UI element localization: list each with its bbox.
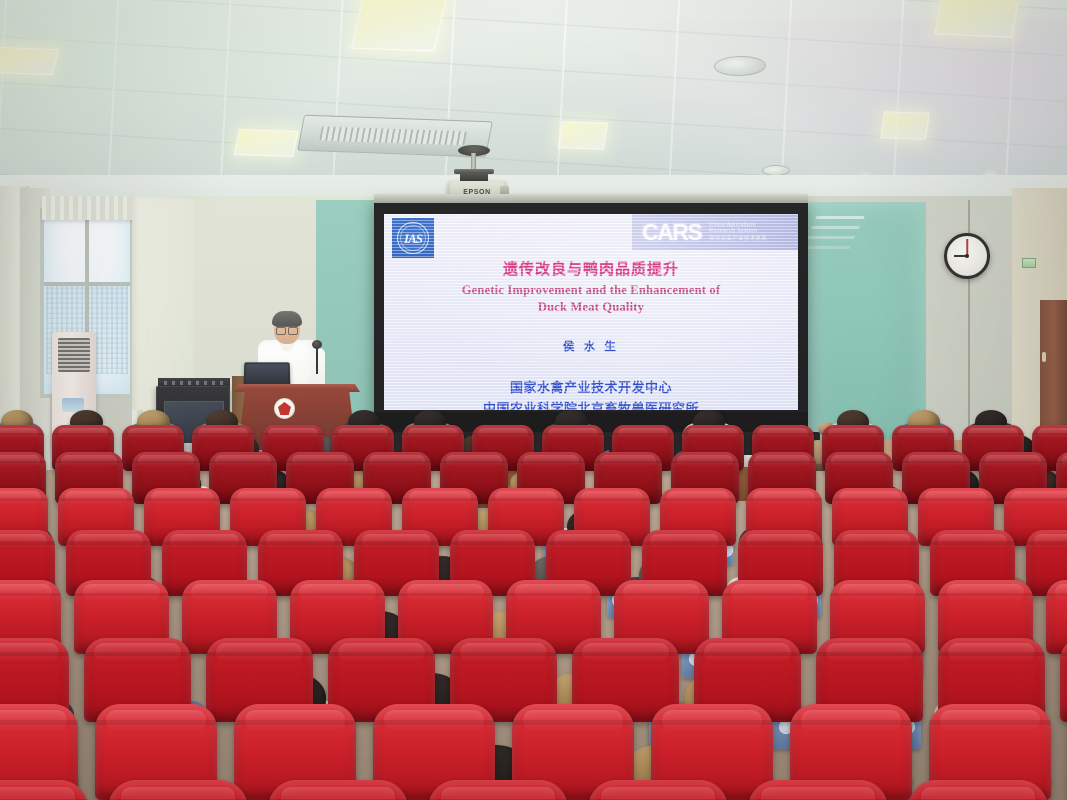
ias-logo-text: IAS	[404, 232, 422, 245]
slide-organization: 国家水禽产业技术开发中心 中国农业科学院北京畜牧兽医研究所	[384, 377, 798, 411]
microphone-stand	[316, 346, 318, 374]
slide-text-block: 遗传改良与鸭肉品质提升 Genetic Improvement and the …	[384, 258, 798, 410]
projection-screen[interactable]: IAS CARS China Agriculture Research Syst…	[374, 200, 808, 432]
ceiling-panel-light	[351, 0, 449, 51]
ceiling-panel-light	[880, 111, 930, 140]
cars-chinese-line: 现代农业产业技术体系	[709, 236, 767, 242]
cars-logo-subtext: China Agriculture Research System 现代农业产业…	[709, 222, 767, 242]
slide-org-line1: 国家水禽产业技术开发中心	[510, 380, 672, 395]
clock-face-tickmarks	[947, 236, 987, 276]
auditorium-seat[interactable]	[428, 780, 568, 800]
ceiling-panel-light	[558, 121, 608, 150]
lecture-hall-scene: EPSON	[0, 0, 1067, 800]
slide-org-line2: 中国农业科学院北京畜牧兽医研究所	[483, 401, 699, 410]
slide-title-english: Genetic Improvement and the Enhancement …	[384, 282, 798, 317]
auditorium-seat[interactable]	[268, 780, 408, 800]
auditorium-seat[interactable]	[908, 780, 1048, 800]
gooseneck-microphone	[312, 340, 322, 349]
screen-top-housing	[374, 194, 808, 203]
slide-title-english-line2: Duck Meat Quality	[538, 300, 644, 314]
auditorium-seat[interactable]	[108, 780, 248, 800]
ias-logo-ring: IAS	[397, 222, 429, 254]
speaker-glasses	[276, 326, 298, 332]
exit-sign	[1022, 258, 1036, 268]
projector-mount-rod	[471, 153, 476, 170]
ceiling-panel-light	[934, 0, 1019, 38]
cars-logo: CARS China Agriculture Research System 现…	[632, 214, 798, 250]
wall-clock	[944, 233, 990, 279]
auditorium-seat[interactable]	[748, 780, 888, 800]
slide-author-name: 侯 水 生	[384, 338, 798, 354]
slide-title-english-line1: Genetic Improvement and the Enhancement …	[462, 283, 721, 297]
roller-blind-valance[interactable]	[42, 196, 134, 220]
presentation-slide: IAS CARS China Agriculture Research Syst…	[384, 214, 798, 410]
auditorium-seat[interactable]	[1060, 638, 1067, 722]
red-star-emblem	[274, 398, 295, 419]
ceiling-panel-light	[0, 47, 59, 75]
ceiling-panel-light	[233, 129, 298, 157]
ac-grille	[58, 338, 90, 372]
cars-english-line2: Research System	[709, 228, 767, 234]
speaker-hair	[272, 311, 302, 326]
auditorium-seat[interactable]	[588, 780, 728, 800]
window-mullion	[44, 282, 130, 286]
slide-title-chinese: 遗传改良与鸭肉品质提升	[384, 258, 798, 279]
auditorium-seat[interactable]	[1046, 580, 1067, 654]
wall-glass-reflection	[815, 216, 864, 219]
audience-seating	[0, 430, 1067, 800]
cars-wordmark: CARS	[642, 221, 701, 244]
ias-institute-logo: IAS	[392, 218, 434, 258]
